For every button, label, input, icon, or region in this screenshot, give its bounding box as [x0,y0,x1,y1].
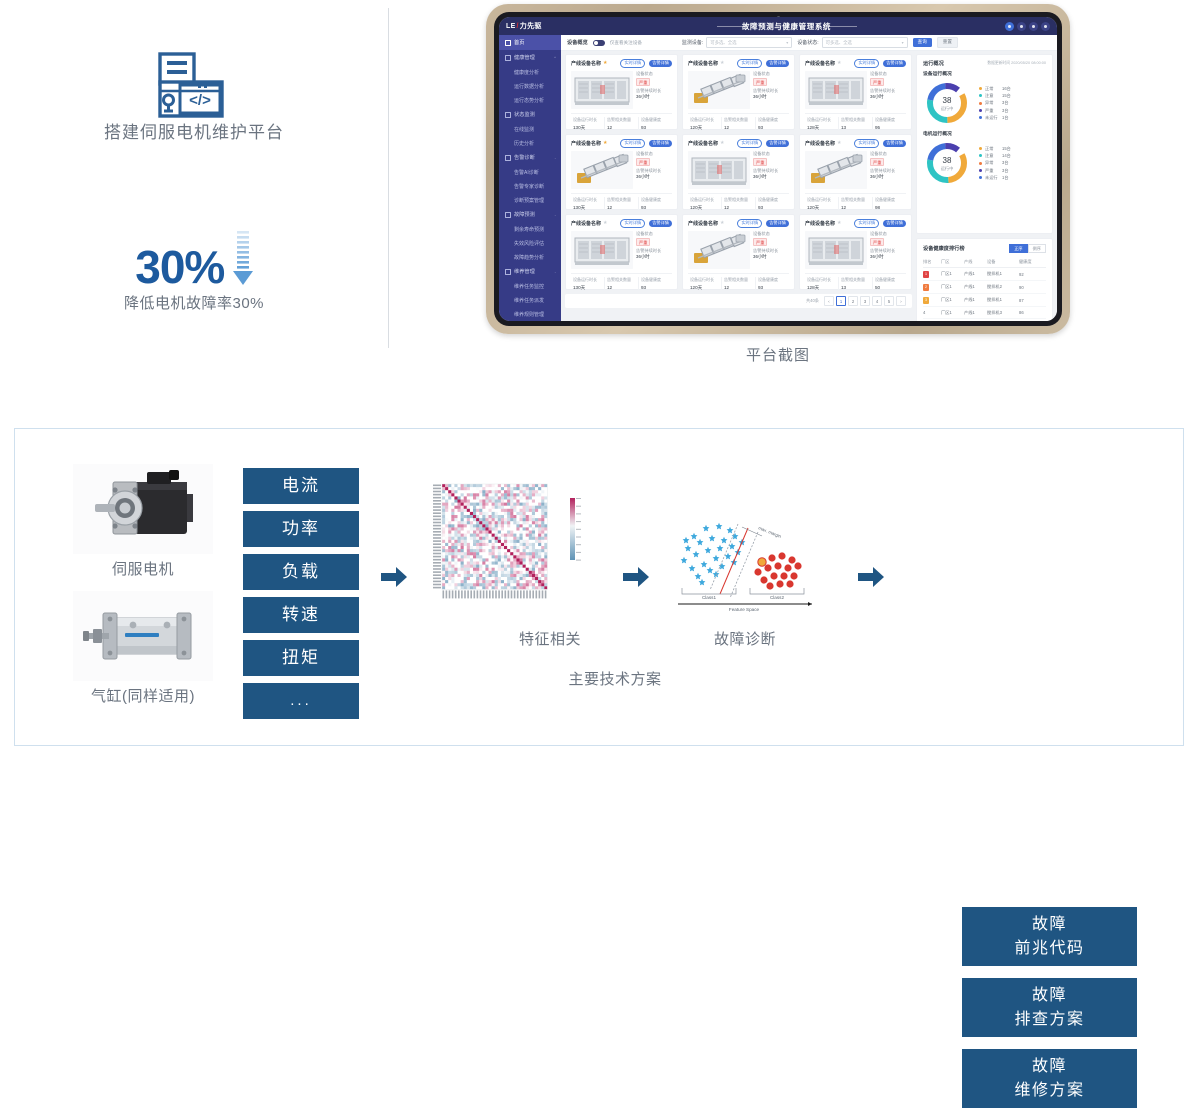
duration-value: 36小时 [870,254,906,261]
rank-table-header: 排名厂区产线设备健康度 [923,256,1046,268]
sidebar-subitem-17[interactable]: 维养任务监控 [499,279,561,293]
medal-icon: 3 [923,297,929,304]
device-card[interactable]: 产线设备名称★实时详情告警详情设备状态严重告警持续时长36小时设备运行时长120… [682,134,795,210]
search-button[interactable]: 查询 [913,38,932,47]
brand-slash: / [517,23,519,30]
legend-value: 14台 [1002,152,1011,159]
star-icon[interactable]: ★ [720,220,724,226]
device-name: 产线设备名称 [571,60,601,67]
cell-rank: 5 [923,319,941,321]
realtime-detail-button[interactable]: 实时详情 [737,219,762,228]
legend-dot-icon [979,162,982,165]
overview-title: 运行概况 [923,60,944,67]
card-stats: 设备运行时长120天告警相关数量12设备健康度93 [688,273,789,292]
table-row[interactable]: 5厂区1产线1搅拌机182 [923,319,1046,321]
duration-value: 36小时 [636,254,672,261]
sidebar-subitem-7[interactable]: 历史分析 [499,136,561,150]
toggle-hint: 仅查看关注设备 [610,40,642,46]
page-2[interactable]: 2 [848,296,858,306]
device-card[interactable]: 产线设备名称★实时详情告警详情设备状态严重告警持续时长36小时设备运行时长130… [565,134,678,210]
tablet-screen: LE / 力先驱 故障预测与健康管理系统 首页健康管理^ [499,17,1057,321]
right-arrow-icon [623,566,649,588]
duration-label: 告警持续时长 [636,248,661,253]
alarm-detail-button[interactable]: 告警详情 [883,60,906,67]
class2-label: Class2 [770,595,784,600]
status-badge: 严重 [636,78,650,86]
card-status-block: 设备状态严重告警持续时长36小时 [636,71,672,109]
card-header: 产线设备名称★实时详情告警详情 [688,59,789,68]
page-5[interactable]: 5 [884,296,894,306]
status-badge: 严重 [753,158,767,166]
legend-value: 1台 [1002,114,1009,121]
svg-text:运行中: 运行中 [941,165,954,172]
output-box-1: 故障排查方案 [962,978,1137,1037]
bell-icon[interactable] [1029,22,1038,31]
stat-health: 设备健康度98 [873,197,906,212]
table-row[interactable]: 3厂区1产线1搅拌机187 [923,294,1046,307]
legend-dot-icon [979,94,982,97]
status-filter-select[interactable]: 可多选、全选 ▾ [822,37,908,48]
realtime-detail-button[interactable]: 实时详情 [620,139,645,148]
cell-line: 产线1 [964,268,987,281]
overview-header: 运行概况 数据更新时间 2020/05/20 08:00:00 [923,60,1046,67]
stat-label: 降低电机故障率30% [0,292,388,313]
realtime-detail-button[interactable]: 实时详情 [620,59,645,68]
alarm-detail-button[interactable]: 告警详情 [649,220,672,227]
status-label: 设备状态 [753,151,770,156]
rank-col-header: 排名 [923,256,941,268]
user-icon[interactable] [1005,22,1014,31]
cell-device: 搅拌机1 [987,319,1019,321]
table-row[interactable]: 4厂区1产线1搅拌机386 [923,307,1046,319]
star-icon[interactable]: ★ [603,60,607,66]
card-body: 设备状态严重告警持续时长36小时 [805,231,906,269]
rank-col-header: 厂区 [941,256,964,268]
heatmap-caption: 特征相关 [470,628,630,649]
realtime-detail-button[interactable]: 实时详情 [737,59,762,68]
table-row[interactable]: 1厂区1产线1搅拌机192 [923,268,1046,281]
device-card[interactable]: 产线设备名称★实时详情告警详情设备状态严重告警持续时长36小时设备运行时长130… [565,214,678,290]
legend-label: 未运行 [985,174,999,181]
total-count: 共40条 [806,298,819,304]
duration-value: 36小时 [636,94,672,101]
card-stats: 设备运行时长120天告警相关数量12设备健康度93 [688,113,789,132]
star-icon[interactable]: ★ [603,140,607,146]
stat-alarm-count: 告警相关数量13 [839,117,873,132]
legend-dot-icon [979,154,982,157]
signal-tag-1: 功率 [243,511,359,547]
device-image [805,231,867,269]
stat-health: 设备健康度93 [639,197,672,212]
device-card-area: 产线设备名称★实时详情告警详情设备状态严重告警持续时长36小时设备运行时长130… [565,54,912,317]
device-image [805,151,867,189]
signal-tag-2: 负载 [243,554,359,590]
status-filter: 设备状态: 可多选、全选 ▾ [797,37,907,48]
motor-legend-row-3: 严重3台 [979,167,1011,174]
duration-label: 告警持续时长 [753,88,778,93]
realtime-detail-button[interactable]: 实时详情 [854,139,879,148]
cell-device: 搅拌机3 [987,307,1019,319]
brand-left: LE [506,23,516,30]
device-filter-label: 监测设备: [682,39,703,46]
chevron-icon: ^ [554,55,556,60]
cell-rank: 1 [923,268,941,281]
sidebar-item-label: 告警诊断 [514,154,535,161]
star-icon[interactable]: ★ [837,220,841,226]
servo-motor-block: 伺服电机 [73,464,213,706]
page-3[interactable]: 3 [860,296,870,306]
stat-health: 设备健康度93 [639,117,672,132]
star-icon[interactable]: ★ [720,140,724,146]
stat-value: 30% [135,244,224,290]
output-box-0: 故障前兆代码 [962,907,1137,966]
card-body: 设备状态严重告警持续时长36小时 [571,231,672,269]
reset-button[interactable]: 重置 [937,37,958,48]
cell-zone: 厂区1 [941,307,964,319]
status-label: 设备状态 [870,71,887,76]
device-card[interactable]: 产线设备名称★实时详情告警详情设备状态严重告警持续时长36小时设备运行时长120… [799,134,912,210]
rank-table-body: 1厂区1产线1搅拌机1922厂区1产线1搅拌机2903厂区1产线1搅拌机1874… [923,268,1046,321]
brand-logo[interactable]: LE / 力先驱 [499,21,568,31]
rank-sort-toggle[interactable]: 正序倒序 [1009,244,1046,253]
cell-rank: 2 [923,281,941,294]
status-badge: 严重 [870,78,884,86]
card-header: 产线设备名称★实时详情告警详情 [805,59,906,68]
legend-label: 异常 [985,99,999,106]
sidebar-item-label: 故障预测 [514,211,535,218]
sidebar-item-16[interactable]: 维养管理- [499,264,561,279]
star-icon[interactable]: ★ [720,60,724,66]
brand-right: 力先驱 [520,21,542,31]
sidebar-subitem-4[interactable]: 运行态势分析 [499,93,561,107]
device-card[interactable]: 产线设备名称★实时详情告警详情设备状态严重告警持续时长36小时设备运行时长120… [682,214,795,290]
card-header: 产线设备名称★实时详情告警详情 [571,59,672,68]
chevron-icon: - [555,212,556,217]
realtime-detail-button[interactable]: 实时详情 [854,219,879,228]
device-image [688,151,750,189]
duration-label: 告警持续时长 [636,168,661,173]
cylinder-caption: 气缸(同样适用) [73,685,213,706]
app-header: LE / 力先驱 故障预测与健康管理系统 [499,17,1057,35]
output-line2: 前兆代码 [1014,937,1084,960]
card-stats: 设备运行时长120天告警相关数量12设备健康度93 [688,193,789,212]
card-stats: 设备运行时长120天告警相关数量12设备健康度98 [805,193,906,212]
vertical-divider [388,8,389,348]
card-stats: 设备运行时长130天告警相关数量12设备健康度93 [571,193,672,212]
chevron-icon: - [555,269,556,274]
running-overview-card: 运行概况 数据更新时间 2020/05/20 08:00:00 设备运行概况 [916,54,1053,234]
legend-value: 15台 [1002,92,1011,99]
card-status-block: 设备状态严重告警持续时长36小时 [753,231,789,269]
legend-value: 3台 [1002,99,1009,106]
legend-label: 严重 [985,107,999,114]
cell-score: 82 [1019,319,1046,321]
alarm-detail-button[interactable]: 告警详情 [766,140,789,147]
stat-runtime: 设备运行时长130天 [571,197,605,212]
cell-score: 90 [1019,281,1046,294]
device-donut-row: 38 运行中 正常16台注意15台异常3台严重3台未运行1台 [923,79,1046,127]
legend-label: 未运行 [985,114,999,121]
stat-health: 设备健康度93 [756,117,789,132]
status-badge: 严重 [753,238,767,246]
svg-text:38: 38 [943,96,952,105]
card-body: 设备状态严重告警持续时长36小时 [805,151,906,189]
sidebar-subitem-18[interactable]: 维养任务派发 [499,293,561,307]
device-name: 产线设备名称 [688,220,718,227]
sidebar-item-5[interactable]: 状态监测 [499,107,561,122]
device-name: 产线设备名称 [805,220,835,227]
stat-runtime: 设备运行时长130天 [571,117,605,132]
cell-score: 86 [1019,307,1046,319]
duration-label: 告警持续时长 [870,88,895,93]
alarm-detail-button[interactable]: 告警详情 [649,60,672,67]
sidebar-item-label: 维养管理 [514,268,535,275]
stat-runtime: 设备运行时长128天 [805,277,839,292]
status-badge: 严重 [636,158,650,166]
duration-label: 告警持续时长 [870,168,895,173]
stat-runtime: 设备运行时长120天 [688,197,722,212]
duration-value: 36小时 [636,174,672,181]
device-legend-row-1: 注意15台 [979,92,1011,99]
device-card[interactable]: 产线设备名称★实时详情告警详情设备状态严重告警持续时长36小时设备运行时长128… [799,54,912,130]
legend-dot-icon [979,147,982,150]
tablet-mockup: LE / 力先驱 故障预测与健康管理系统 首页健康管理^ [486,4,1070,334]
card-status-block: 设备状态严重告警持续时长36小时 [636,151,672,189]
sidebar[interactable]: 首页健康管理^健康度分析运行数据分析运行态势分析状态监测在线监测历史分析告警诊断… [499,35,561,321]
sidebar-subitem-6[interactable]: 在线监测 [499,122,561,136]
status-label: 设备状态 [636,231,653,236]
device-card[interactable]: 产线设备名称★实时详情告警详情设备状态严重告警持续时长36小时设备运行时长128… [799,214,912,290]
home-icon[interactable] [1017,22,1026,31]
legend-value: 3台 [1002,167,1009,174]
medal-icon: 1 [923,271,929,278]
card-stats: 设备运行时长128天告警相关数量13设备健康度50 [805,273,906,292]
star-icon[interactable]: ★ [837,140,841,146]
motor-legend-row-4: 未运行1台 [979,174,1011,181]
cell-device: 搅拌机1 [987,268,1019,281]
legend-value: 1台 [1002,174,1009,181]
card-body: 设备状态严重告警持续时长36小时 [688,151,789,189]
sidebar-subitem-3[interactable]: 运行数据分析 [499,79,561,93]
cell-rank: 4 [923,307,941,319]
signal-tag-list: 电流功率负载转速扭矩... [243,468,359,726]
device-name: 产线设备名称 [805,140,835,147]
duration-value: 36小时 [753,94,789,101]
stat-runtime: 设备运行时长120天 [688,117,722,132]
chart-icon [505,212,511,218]
svm-caption: 故障诊断 [665,628,825,649]
class1-label: Class1 [702,595,716,600]
card-status-block: 设备状态严重告警持续时长36小时 [636,231,672,269]
card-body: 设备状态严重告警持续时长36小时 [805,71,906,109]
table-row[interactable]: 2厂区1产线1搅拌机290 [923,281,1046,294]
down-arrow-icon [233,231,253,294]
device-name: 产线设备名称 [688,60,718,67]
chevron-down-icon: ▾ [786,40,788,45]
cell-score: 87 [1019,294,1046,307]
card-stats: 设备运行时长128天告警相关数量13设备健康度95 [805,113,906,132]
sidebar-subitem-14[interactable]: 失效风险评估 [499,236,561,250]
page-4[interactable]: 4 [872,296,882,306]
sidebar-subitem-13[interactable]: 剩余寿命预测 [499,222,561,236]
sidebar-subitem-19[interactable]: 维养规则管理 [499,307,561,321]
axis-label: Feature Space [729,607,760,612]
right-arrow-icon [858,566,884,588]
alarm-detail-button[interactable]: 告警详情 [766,60,789,67]
alert-icon [505,155,511,161]
alarm-detail-button[interactable]: 告警详情 [766,220,789,227]
svg-text:运行中: 运行中 [941,105,954,112]
device-filter-value: 可多选、全选 [710,40,736,46]
platform-label: 搭建伺服电机维护平台 [0,118,388,143]
card-header: 产线设备名称★实时详情告警详情 [805,219,906,228]
rank-title: 设备健康度排行榜 [923,245,965,252]
home-icon [505,40,511,46]
stat-alarm-count: 告警相关数量12 [605,117,639,132]
servo-motor-caption: 伺服电机 [73,558,213,579]
device-image [688,231,750,269]
health-rank-card: 设备健康度排行榜 正序倒序 排名厂区产线设备健康度 1厂区1产线1搅拌机1922… [916,238,1053,321]
card-status-block: 设备状态严重告警持续时长36小时 [753,71,789,109]
alarm-detail-button[interactable]: 告警详情 [883,220,906,227]
duration-label: 告警持续时长 [753,248,778,253]
motor-legend-row-2: 异常3台 [979,159,1011,166]
realtime-detail-button[interactable]: 实时详情 [737,139,762,148]
rank-col-header: 设备 [987,256,1019,268]
device-image [571,231,633,269]
card-body: 设备状态严重告警持续时长36小时 [688,71,789,109]
sidebar-subitem-15[interactable]: 故障趋势分析 [499,250,561,264]
output-box-list: 故障前兆代码故障排查方案故障维修方案 [962,907,1137,1120]
right-arrow-icon [381,566,407,588]
page-1[interactable]: 1 [836,296,846,306]
sidebar-item-0[interactable]: 首页 [499,35,561,50]
page-prev[interactable]: ‹ [824,296,834,306]
stat-runtime: 设备运行时长120天 [688,277,722,292]
overview-panel: 运行概况 数据更新时间 2020/05/20 08:00:00 设备运行概况 [916,54,1053,317]
sidebar-subitem-9[interactable]: 告警AI诊断 [499,165,561,179]
device-filter-select[interactable]: 可多选、全选 ▾ [706,37,792,48]
rank-col-header: 健康度 [1019,256,1046,268]
motor-legend: 正常15台注意14台异常3台严重3台未运行1台 [979,145,1011,182]
output-line1: 故障 [1032,913,1067,936]
duration-label: 告警持续时长 [636,88,661,93]
cell-line: 产线1 [964,319,987,321]
legend-value: 16台 [1002,85,1011,92]
tablet-bezel: LE / 力先驱 故障预测与健康管理系统 首页健康管理^ [494,12,1062,326]
sidebar-subitem-10[interactable]: 告警专家诊断 [499,179,561,193]
legend-dot-icon [979,87,982,90]
card-body: 设备状态严重告警持续时长36小时 [571,151,672,189]
rank-col-header: 产线 [964,256,987,268]
card-header: 产线设备名称★实时详情告警详情 [571,139,672,148]
sidebar-subitem-2[interactable]: 健康度分析 [499,65,561,79]
stat-health: 设备健康度93 [756,197,789,212]
heart-icon [505,55,511,61]
legend-label: 注意 [985,92,999,99]
pagination[interactable]: 共40条‹12345› [565,294,912,308]
legend-dot-icon [979,102,982,105]
stat-health: 设备健康度50 [873,277,906,292]
main-content: 设备概览 仅查看关注设备 监测设备: 可多选、全选 ▾ [561,35,1057,321]
rank-toggle-0[interactable]: 正序 [1009,244,1027,253]
device-legend-row-3: 严重3台 [979,107,1011,114]
status-badge: 严重 [636,238,650,246]
main-scheme-caption: 主要技术方案 [485,668,745,689]
card-status-block: 设备状态严重告警持续时长36小时 [870,231,906,269]
gear-icon[interactable] [1041,22,1050,31]
star-icon[interactable]: ★ [837,60,841,66]
status-badge: 严重 [870,158,884,166]
page-next[interactable]: › [896,296,906,306]
cell-zone: 厂区1 [941,319,964,321]
status-label: 设备状态 [870,231,887,236]
sidebar-item-label: 健康管理 [514,54,535,61]
realtime-detail-button[interactable]: 实时详情 [854,59,879,68]
motor-section-title: 电机运行概况 [923,130,1046,137]
device-filter: 监测设备: 可多选、全选 ▾ [682,37,792,48]
status-label: 设备状态 [636,151,653,156]
sidebar-subitem-11[interactable]: 诊断预案管理 [499,193,561,207]
device-legend: 正常16台注意15台异常3台严重3台未运行1台 [979,85,1011,122]
device-legend-row-4: 未运行1台 [979,114,1011,121]
cell-score: 92 [1019,268,1046,281]
sidebar-item-12[interactable]: 故障预测- [499,207,561,222]
device-card[interactable]: 产线设备名称★实时详情告警详情设备状态严重告警持续时长36小时设备运行时长120… [682,54,795,130]
legend-dot-icon [979,169,982,172]
alarm-detail-button[interactable]: 告警详情 [883,140,906,147]
stat-alarm-count: 告警相关数量12 [722,277,756,292]
device-legend-row-0: 正常16台 [979,85,1011,92]
medal-icon: 2 [923,284,929,291]
stat-alarm-count: 告警相关数量12 [605,197,639,212]
pneumatic-cylinder-photo [73,591,213,681]
legend-label: 严重 [985,167,999,174]
stat-health: 设备健康度93 [639,277,672,292]
signal-tag-5: ... [243,683,359,719]
stat-alarm-count: 告警相关数量12 [839,197,873,212]
status-badge: 严重 [870,238,884,246]
device-name: 产线设备名称 [688,140,718,147]
realtime-detail-button[interactable]: 实时详情 [620,219,645,228]
device-card[interactable]: 产线设备名称★实时详情告警详情设备状态严重告警持续时长36小时设备运行时长130… [565,54,678,130]
tablet-caption: 平台截图 [486,344,1070,365]
sidebar-item-label: 首页 [514,39,524,46]
app-title: 故障预测与健康管理系统 [568,21,1005,32]
chevron-down-icon: ▾ [902,40,904,45]
star-icon[interactable]: ★ [603,220,607,226]
card-body: 设备状态严重告警持续时长36小时 [571,71,672,109]
signal-tag-3: 转速 [243,597,359,633]
svg-text:38: 38 [943,156,952,165]
sidebar-item-8[interactable]: 告警诊断- [499,150,561,165]
output-line1: 故障 [1032,1055,1067,1078]
fault-diagnosis-chart: max. marginClass1Class2Feature Space [672,518,817,613]
motor-legend-row-0: 正常15台 [979,145,1011,152]
cell-zone: 厂区1 [941,268,964,281]
cell-line: 产线1 [964,281,987,294]
servo-motor-photo [73,464,213,554]
favorites-toggle[interactable] [593,40,605,46]
cell-zone: 厂区1 [941,294,964,307]
svg-text:</>: </> [189,92,211,109]
alarm-detail-button[interactable]: 告警详情 [649,140,672,147]
rank-toggle-1[interactable]: 倒序 [1028,244,1046,253]
device-image [688,71,750,109]
sidebar-item-1[interactable]: 健康管理^ [499,50,561,65]
motor-donut-chart: 38 运行中 [923,139,971,187]
output-box-2: 故障维修方案 [962,1049,1137,1108]
